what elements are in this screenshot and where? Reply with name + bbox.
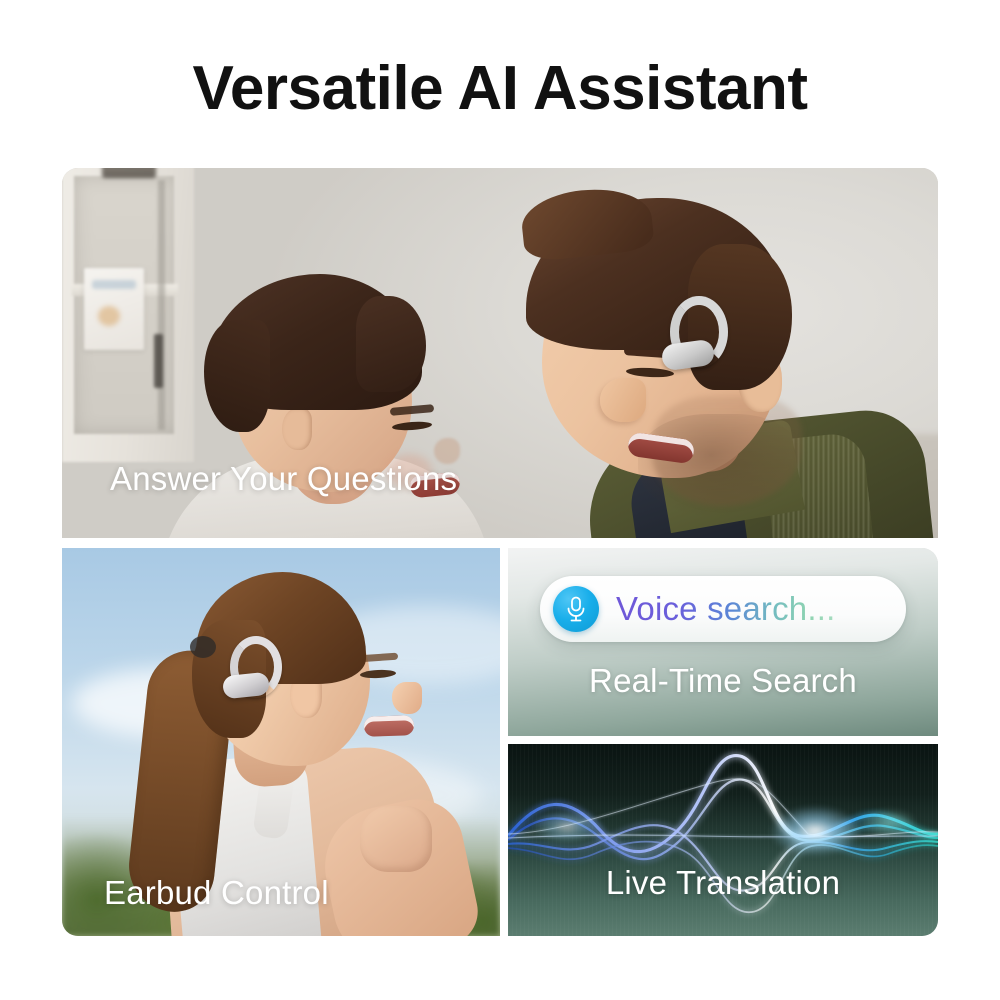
- caption-answer-your-questions: Answer Your Questions: [110, 460, 457, 498]
- feature-grid: Answer Your Questions: [62, 168, 938, 936]
- page-title: Versatile AI Assistant: [0, 52, 1000, 126]
- woman-hair-tie: [190, 636, 216, 658]
- bookshelf: [62, 168, 194, 462]
- boy-hair-side: [204, 320, 270, 432]
- man-nose: [600, 378, 646, 422]
- panel-real-time-search[interactable]: Voice search... Real-Time Search: [508, 548, 938, 736]
- voice-search-field[interactable]: Voice search...: [540, 576, 906, 642]
- wave-glow-left: [532, 810, 602, 844]
- caption-live-translation: Live Translation: [508, 864, 938, 902]
- shelf-object: [102, 168, 156, 178]
- wave-glow-right: [860, 808, 918, 838]
- woman-eye: [360, 669, 396, 679]
- microphone-glyph: [565, 596, 587, 622]
- panel-answer-your-questions[interactable]: Answer Your Questions: [62, 168, 938, 538]
- marketing-feature-card: Versatile AI Assistant: [0, 0, 1000, 1000]
- boy-ear: [282, 408, 312, 450]
- microphone-icon[interactable]: [553, 586, 599, 632]
- shelf-post: [158, 180, 165, 430]
- wave-glow-center: [770, 806, 860, 856]
- caption-earbud-control: Earbud Control: [104, 874, 329, 912]
- woman-fist: [360, 806, 432, 872]
- frame-detail-bottom: [98, 306, 120, 326]
- picture-frame: [84, 268, 144, 350]
- woman-mouth: [364, 715, 415, 737]
- earbud-icon-man: [660, 296, 722, 380]
- frame-detail-top: [92, 280, 136, 289]
- boy-eye: [392, 421, 432, 432]
- woman-nose: [392, 682, 422, 714]
- caption-real-time-search: Real-Time Search: [508, 662, 938, 700]
- man-figure: [482, 192, 902, 538]
- panel-live-translation[interactable]: Live Translation: [508, 744, 938, 936]
- earbud-pod: [660, 339, 715, 372]
- voice-search-text: Voice search...: [616, 590, 835, 628]
- boy-hair-back: [356, 296, 426, 392]
- boy-eyebrow: [390, 404, 435, 416]
- panel-earbud-control[interactable]: Earbud Control: [62, 548, 500, 936]
- earbud-icon-woman: [222, 636, 276, 708]
- book-spine: [154, 334, 163, 388]
